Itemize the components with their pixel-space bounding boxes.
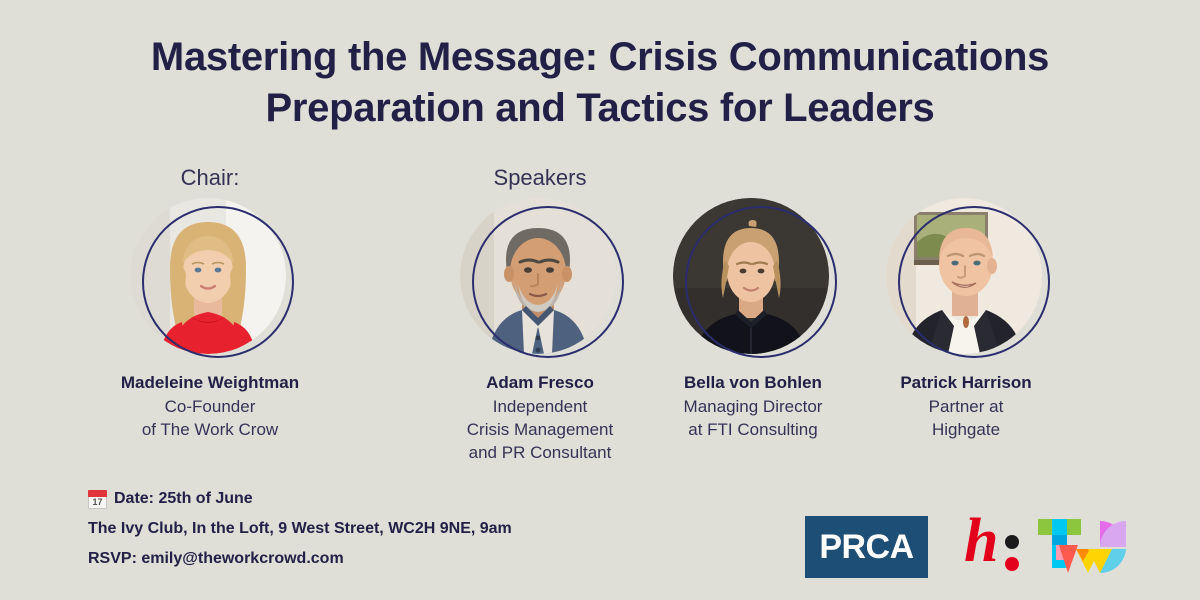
avatar-adam-fresco: [460, 198, 616, 354]
role-line: Managing Director: [633, 395, 873, 418]
portrait-wrap-speaker-1: [460, 198, 620, 358]
role-line: Partner at: [846, 395, 1086, 418]
rsvp-text[interactable]: RSVP: emily@theworkcrowd.com: [88, 550, 344, 568]
tw-logo-mark: [1038, 517, 1133, 577]
role-line: Co-Founder: [80, 395, 340, 418]
event-poster: Mastering the Message: Crisis Communicat…: [0, 0, 1200, 600]
role-line: and PR Consultant: [420, 441, 660, 464]
person-speaker-1: Adam Fresco Independent Crisis Managemen…: [460, 198, 620, 464]
person-name-speaker-1: Adam Fresco: [420, 372, 660, 395]
person-chair: Madeleine Weightman Co-Founder of The Wo…: [130, 198, 290, 441]
page-title: Mastering the Message: Crisis Communicat…: [60, 32, 1140, 134]
avatar-madeleine-weightman: [130, 198, 286, 354]
chair-caption: Chair:: [120, 165, 300, 191]
person-speaker-3: Patrick Harrison Partner at Highgate: [886, 198, 1046, 441]
role-line: Crisis Management: [420, 418, 660, 441]
title-line-2: Preparation and Tactics for Leaders: [60, 83, 1140, 134]
role-line: at FTI Consulting: [633, 418, 873, 441]
h-logo-letter: h: [964, 510, 998, 572]
title-line-1: Mastering the Message: Crisis Communicat…: [60, 32, 1140, 83]
logo-group: PRCA h: [805, 516, 1133, 578]
portrait-wrap-chair: [130, 198, 290, 358]
person-role-speaker-2: Managing Director at FTI Consulting: [633, 395, 873, 441]
speakers-caption: Speakers: [450, 165, 630, 191]
prca-logo-text: PRCA: [819, 530, 913, 564]
role-line: of The Work Crow: [80, 418, 340, 441]
person-role-chair: Co-Founder of The Work Crow: [80, 395, 340, 441]
person-name-chair: Madeleine Weightman: [80, 372, 340, 395]
person-name-speaker-2: Bella von Bohlen: [633, 372, 873, 395]
person-role-speaker-3: Partner at Highgate: [846, 395, 1086, 441]
role-line: Independent: [420, 395, 660, 418]
avatar-patrick-harrison: [886, 198, 1042, 354]
rsvp-row[interactable]: RSVP: emily@theworkcrowd.com: [88, 544, 512, 574]
portrait-wrap-speaker-2: [673, 198, 833, 358]
date-row: 17 Date: 25th of June: [88, 484, 512, 514]
h-logo-dot-black: [1005, 535, 1019, 549]
person-role-speaker-1: Independent Crisis Management and PR Con…: [420, 395, 660, 464]
the-work-crowd-logo: [1038, 517, 1133, 577]
venue-text: The Ivy Club, In the Loft, 9 West Street…: [88, 520, 512, 538]
event-details: 17 Date: 25th of June The Ivy Club, In t…: [88, 484, 512, 574]
role-line: Highgate: [846, 418, 1086, 441]
person-speaker-2: Bella von Bohlen Managing Director at FT…: [673, 198, 833, 441]
h-colon-logo: h: [964, 516, 1032, 578]
prca-logo: PRCA: [805, 516, 928, 578]
calendar-icon: 17: [88, 490, 107, 509]
h-logo-dot-red: [1005, 557, 1019, 571]
portrait-wrap-speaker-3: [886, 198, 1046, 358]
avatar-bella-von-bohlen: [673, 198, 829, 354]
person-name-speaker-3: Patrick Harrison: [846, 372, 1086, 395]
calendar-icon-day: 17: [88, 496, 107, 508]
venue-row: The Ivy Club, In the Loft, 9 West Street…: [88, 514, 512, 544]
date-text: Date: 25th of June: [114, 490, 253, 508]
